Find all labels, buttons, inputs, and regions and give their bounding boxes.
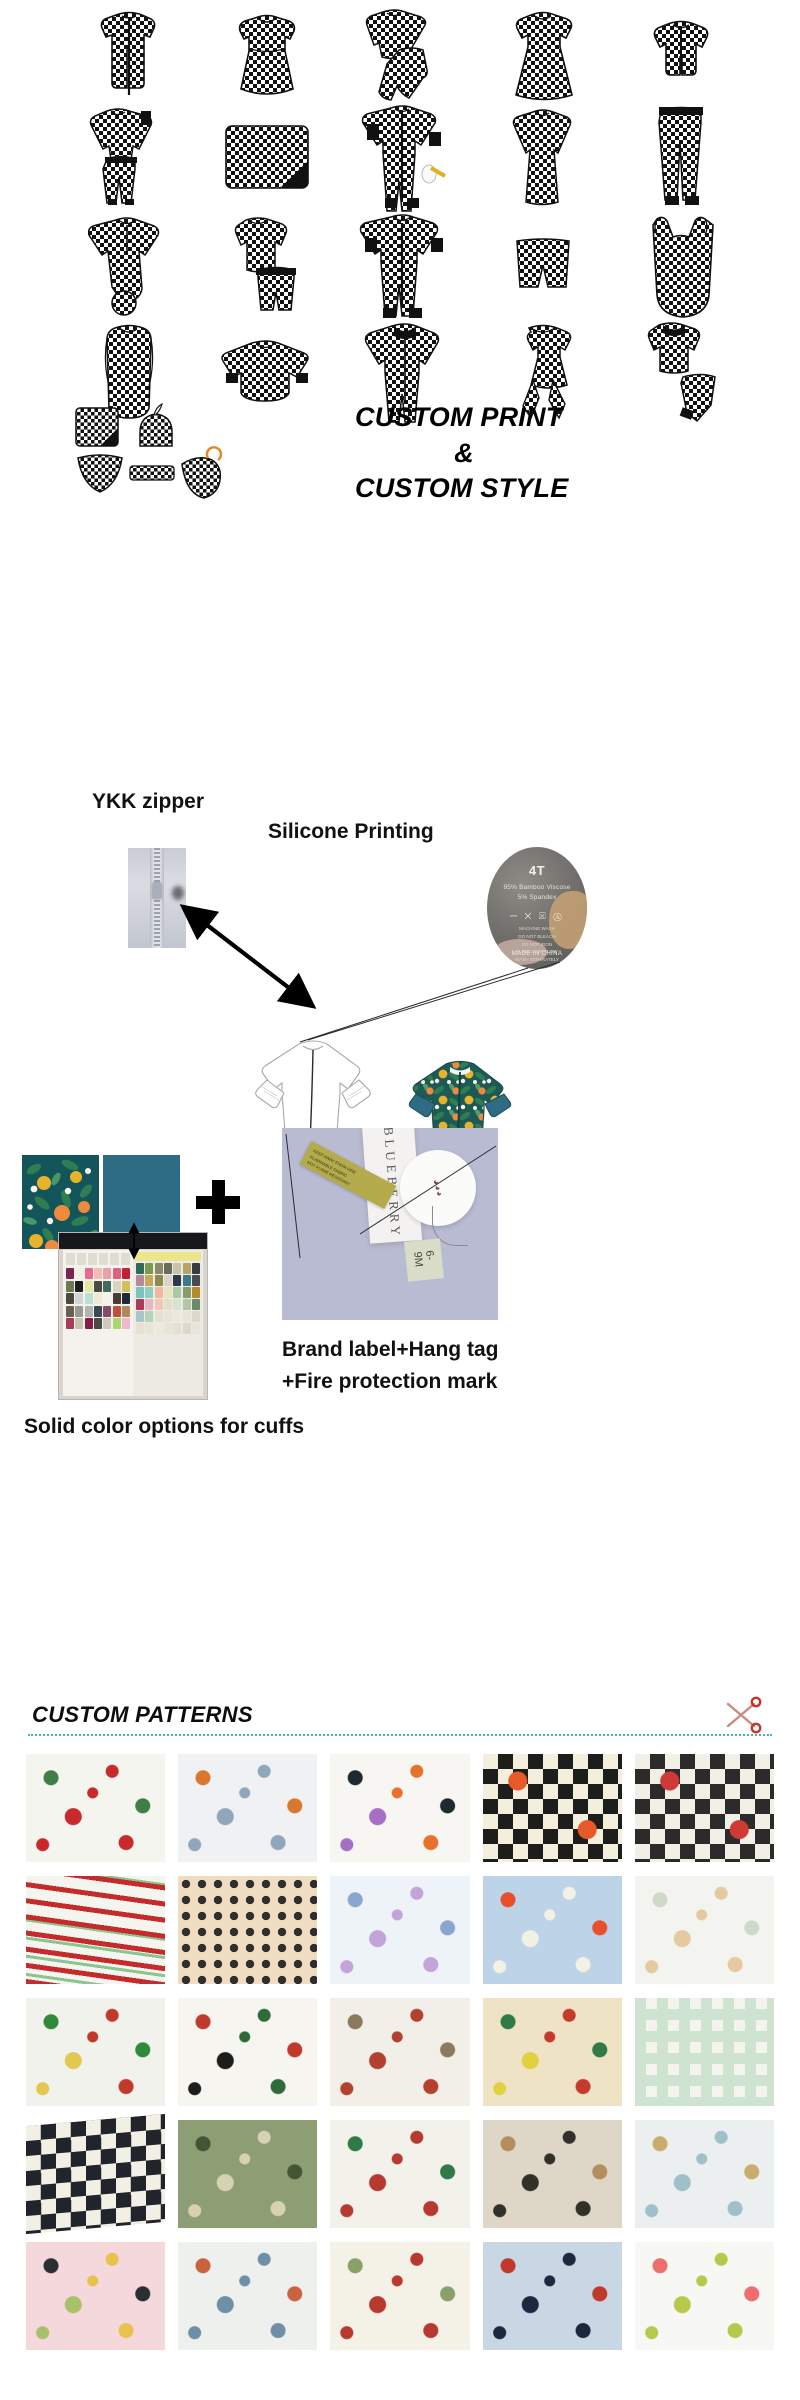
color-chip <box>155 1311 163 1322</box>
color-swatch-grid-left <box>66 1268 130 1329</box>
accessory-bandana-bib <box>78 455 122 492</box>
pattern-swatch-christmas-cake-stripes[interactable] <box>26 1876 165 1984</box>
color-chip <box>94 1306 102 1317</box>
color-chip <box>173 1311 181 1322</box>
color-chip <box>122 1268 130 1279</box>
pattern-swatch-grinch-wreath-holiday[interactable] <box>483 1998 622 2106</box>
color-chip <box>164 1311 172 1322</box>
color-chip <box>155 1299 163 1310</box>
color-chip <box>75 1293 83 1304</box>
garment-top-and-flare-pants-set <box>336 8 474 102</box>
color-chip <box>66 1306 74 1317</box>
garment-long-sleeve-zip-romper <box>336 102 474 212</box>
color-chip <box>173 1323 181 1334</box>
color-chip <box>75 1268 83 1279</box>
color-chip <box>136 1275 144 1286</box>
color-chip <box>85 1306 93 1317</box>
care-symbols-icon: ⎓ ✕ ☒ Ⓐ <box>487 911 587 922</box>
color-card-right-page <box>133 1250 203 1396</box>
color-chip <box>164 1275 172 1286</box>
color-chip <box>183 1275 191 1286</box>
pattern-swatch-christmas-ornaments[interactable] <box>178 1998 317 2106</box>
care-icon-row <box>66 1253 130 1265</box>
color-chip <box>192 1275 200 1286</box>
pattern-swatch-beach-summer-icons[interactable] <box>635 1876 774 1984</box>
color-chip <box>145 1323 153 1334</box>
garment-womens-pajama-pants <box>612 102 750 212</box>
color-chip <box>173 1275 181 1286</box>
pattern-swatch-red-poppy-floral[interactable] <box>635 2242 774 2350</box>
color-chip <box>113 1318 121 1329</box>
color-chip <box>103 1306 111 1317</box>
plus-operator-icon <box>196 1180 240 1224</box>
color-chip <box>113 1293 121 1304</box>
color-chip <box>122 1318 130 1329</box>
accessory-knotted-baby-hat <box>140 404 172 446</box>
color-chip <box>113 1281 121 1292</box>
color-chip <box>75 1281 83 1292</box>
color-chip <box>173 1263 181 1274</box>
scissors-icon <box>720 1694 764 1738</box>
custom-patterns-title: CUSTOM PATTERNS <box>32 1702 253 1728</box>
color-swatch-grid-right <box>136 1263 200 1334</box>
garment-short-sleeve-two-piece-set <box>198 212 336 320</box>
pattern-swatch-grid <box>26 1754 774 2350</box>
label-composition-line1: 95% Bamboo Viscose <box>503 884 570 891</box>
silicone-printed-label-photo: 4T 95% Bamboo Viscose 5% Spandex ⎓ ✕ ☒ Ⓐ… <box>487 847 587 969</box>
accessory-row <box>70 398 300 513</box>
pattern-swatch-farm-tractor-cows[interactable] <box>26 1998 165 2106</box>
color-chip <box>192 1323 200 1334</box>
garment-baby-blanket <box>198 102 336 212</box>
laptop-edge <box>59 1233 207 1249</box>
headline-ampersand: & <box>355 436 573 472</box>
color-chip <box>145 1287 153 1298</box>
fabric-color-swatch-book-photo <box>58 1232 208 1400</box>
headline-line-1: CUSTOM PRINT <box>355 400 755 436</box>
color-chip <box>113 1268 121 1279</box>
pattern-swatch-neon-leopard-spots[interactable] <box>330 1754 469 1862</box>
ykk-zipper-photo <box>128 848 186 948</box>
section-custom-print-style: CUSTOM PRINT & CUSTOM STYLE <box>0 0 800 790</box>
color-chip <box>155 1287 163 1298</box>
pattern-swatch-tan-polka-dots[interactable] <box>178 1876 317 1984</box>
color-chip <box>192 1263 200 1274</box>
color-chip <box>164 1287 172 1298</box>
color-chip <box>122 1293 130 1304</box>
pattern-swatch-christmas-tree-cookies[interactable] <box>330 2120 469 2228</box>
pattern-swatch-holly-berry-leaves[interactable] <box>26 1754 165 1862</box>
pattern-motif-overlay <box>635 1754 774 1862</box>
color-chip <box>155 1323 163 1334</box>
size-tag: 6-9M <box>404 1238 444 1282</box>
garment-ruffle-one-piece-swimsuit <box>612 212 750 320</box>
color-chip <box>145 1263 153 1274</box>
pattern-swatch-santa-dinosaurs[interactable] <box>330 2242 469 2350</box>
color-chip <box>85 1293 93 1304</box>
brand-label-hang-tag-photo: BLUEBERRY ◕◕◕ KEEP AWAY FROM FIREFLAMMAB… <box>282 1128 498 1320</box>
color-chip <box>94 1268 102 1279</box>
color-chip <box>75 1306 83 1317</box>
color-chip <box>136 1263 144 1274</box>
color-chip <box>183 1263 191 1274</box>
color-chip <box>66 1268 74 1279</box>
garment-two-piece-long-pajama-set <box>60 102 198 212</box>
color-chip <box>173 1299 181 1310</box>
color-chip <box>183 1299 191 1310</box>
color-chip <box>94 1318 102 1329</box>
fire-mark-text: KEEP AWAY FROM FIREFLAMMABLE FABRICNOT F… <box>305 1148 357 1188</box>
color-card-left-page <box>63 1250 133 1396</box>
color-chip <box>145 1299 153 1310</box>
garment-newborn-knotted-gown <box>60 212 198 320</box>
pattern-swatch-ocean-sea-creatures[interactable] <box>178 2242 317 2350</box>
label-composition-line2: 5% Spandex <box>518 894 557 901</box>
color-chip <box>122 1306 130 1317</box>
garment-biker-shorts <box>474 212 612 320</box>
garment-long-sleeve-zip-footie <box>336 212 474 320</box>
color-chip <box>155 1263 163 1274</box>
pattern-swatch-pine-garland-lights[interactable] <box>178 2120 317 2228</box>
color-chip <box>173 1287 181 1298</box>
label-solid-color-cuffs: Solid color options for cuffs <box>24 1415 304 1439</box>
garment-flutter-sleeve-twirl-dress <box>198 8 336 102</box>
color-chip <box>136 1311 144 1322</box>
pattern-swatch-strawberry-checkerboard[interactable] <box>635 1754 774 1862</box>
label-origin: MADE IN CHINA <box>487 951 587 957</box>
color-chip <box>94 1281 102 1292</box>
pattern-swatch-fishing-bobbers[interactable] <box>483 2242 622 2350</box>
garment-style-grid <box>60 8 750 398</box>
garment-short-sleeve-twirl-dress <box>474 8 612 102</box>
color-chip <box>85 1318 93 1329</box>
dotted-divider <box>28 1734 772 1736</box>
headline-line-3: CUSTOM STYLE <box>355 471 755 507</box>
color-chip <box>66 1281 74 1292</box>
label-composition: 95% Bamboo Viscose 5% Spandex <box>487 883 587 903</box>
color-chip <box>183 1311 191 1322</box>
label-silicone-printing: Silicone Printing <box>268 820 434 844</box>
color-chip <box>85 1268 93 1279</box>
color-chip <box>136 1299 144 1310</box>
color-chip <box>122 1281 130 1292</box>
label-brand-hangtag-line1: Brand label+Hang tag <box>282 1338 498 1362</box>
brand-logo-icon: ◕◕◕ <box>431 1178 445 1198</box>
pattern-swatch-castle-fairytale[interactable] <box>330 1876 469 1984</box>
garment-long-sleeve-nightgown <box>474 102 612 212</box>
section-customization-process: YKK zipper Silicone Printing 4T 95% Bamb… <box>0 790 800 1610</box>
pattern-swatch-sushi-pink[interactable] <box>26 2242 165 2350</box>
pattern-motif-overlay <box>483 1754 622 1862</box>
color-chip <box>164 1299 172 1310</box>
accessory-headband <box>130 466 174 480</box>
color-chip <box>192 1299 200 1310</box>
label-size-text: 4T <box>487 863 587 878</box>
color-chip <box>103 1268 111 1279</box>
accessory-lovey-security-blanket <box>76 408 118 446</box>
pattern-swatch-rainbow-stars-moon[interactable] <box>635 2120 774 2228</box>
color-chip <box>183 1287 191 1298</box>
pattern-swatch-wavy-black-checkerboard[interactable] <box>26 2114 165 2234</box>
label-ykk-zipper: YKK zipper <box>92 790 204 814</box>
color-chip <box>136 1323 144 1334</box>
pattern-swatch-construction-trucks[interactable] <box>178 1754 317 1862</box>
size-tag-text: 6-9M <box>411 1250 437 1270</box>
color-chip <box>164 1323 172 1334</box>
color-chip <box>164 1263 172 1274</box>
color-chip <box>136 1287 144 1298</box>
zipper-pull <box>153 882 162 898</box>
color-chip <box>75 1318 83 1329</box>
color-chip <box>66 1318 74 1329</box>
color-chip <box>155 1275 163 1286</box>
garment-short-sleeve-zip-romper <box>60 8 198 102</box>
color-chip <box>145 1311 153 1322</box>
color-chip <box>103 1318 111 1329</box>
pattern-swatch-mint-gingham-check[interactable] <box>635 1998 774 2106</box>
pattern-swatch-christmas-tree-cakes[interactable] <box>483 1876 622 1984</box>
accessory-bonnet <box>182 447 221 498</box>
color-chip <box>103 1293 111 1304</box>
pattern-swatch-sunflower-botanical[interactable] <box>483 2120 622 2228</box>
color-chip <box>145 1275 153 1286</box>
color-chip <box>85 1281 93 1292</box>
label-brand-hangtag-line2: +Fire protection mark <box>282 1370 497 1394</box>
pattern-swatch-santa-letters-vintage[interactable] <box>330 1998 469 2106</box>
color-chip <box>192 1287 200 1298</box>
zipper-teeth <box>154 848 160 948</box>
color-chip <box>183 1323 191 1334</box>
label-care-instructions: MACHINE WASHDO NOT BLEACHDO NOT IRONTUMB… <box>487 925 587 964</box>
highlight-strip <box>135 1252 201 1261</box>
color-chip <box>66 1293 74 1304</box>
section-custom-patterns: CUSTOM PATTERNS <box>0 1650 800 2400</box>
garment-short-sleeve-zip-shortie <box>612 8 750 102</box>
pattern-swatch-pumpkin-checkerboard[interactable] <box>483 1754 622 1862</box>
color-chip <box>94 1293 102 1304</box>
color-chip <box>192 1311 200 1322</box>
headline-block: CUSTOM PRINT & CUSTOM STYLE <box>355 400 755 507</box>
zipper-shadow <box>172 886 184 900</box>
color-chip <box>103 1281 111 1292</box>
color-chip <box>113 1306 121 1317</box>
